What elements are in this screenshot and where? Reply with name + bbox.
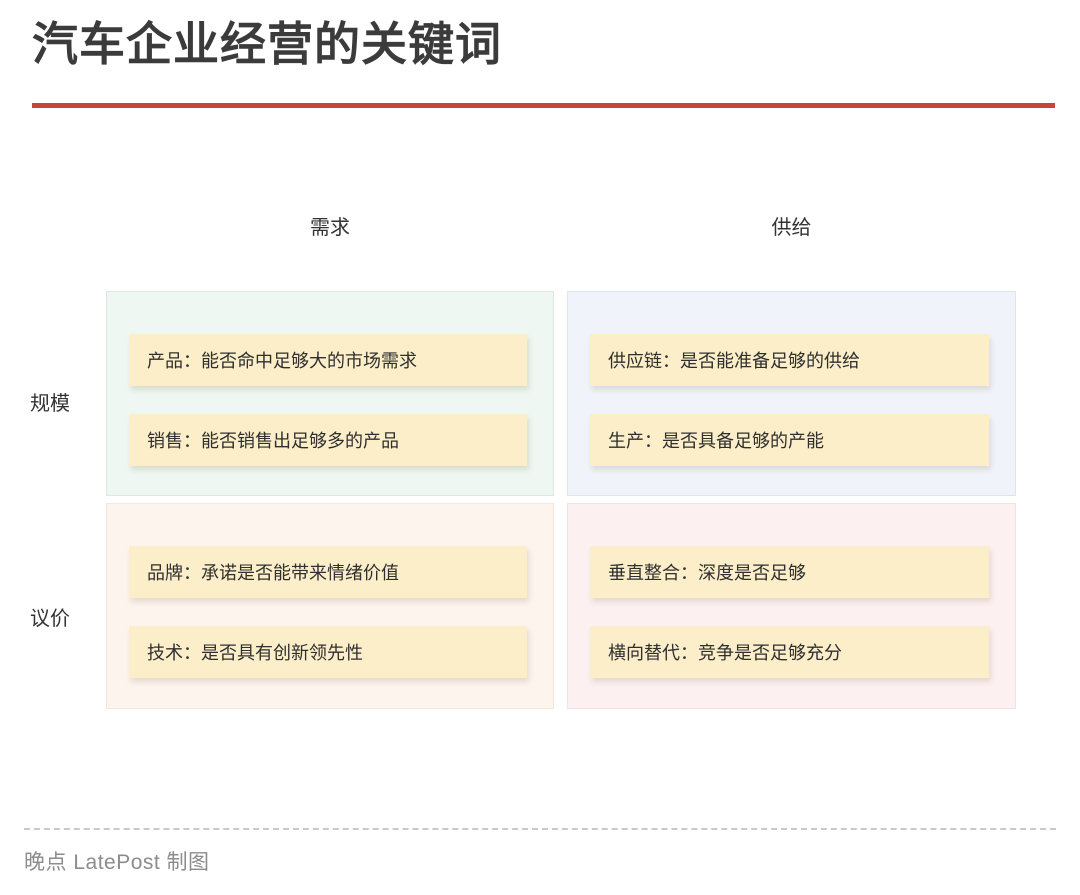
keyword-card: 产品：能否命中足够大的市场需求 <box>129 334 527 386</box>
keyword-card: 品牌：承诺是否能带来情绪价值 <box>129 546 527 598</box>
header: 汽车企业经营的关键词 <box>32 16 1056 74</box>
row-header-bargain: 议价 <box>0 602 100 631</box>
keyword-card: 生产：是否具备足够的产能 <box>590 414 989 466</box>
infographic-page: 汽车企业经营的关键词 需求 供给 规模 议价 产品：能否命中足够大的市场需求 销… <box>0 0 1080 895</box>
row-header-scale: 规模 <box>0 387 100 416</box>
footer: 晚点 LatePost 制图 <box>24 828 1056 876</box>
quadrant-scale-demand: 产品：能否命中足够大的市场需求 销售：能否销售出足够多的产品 <box>106 291 554 496</box>
matrix-grid: 规模 议价 产品：能否命中足够大的市场需求 销售：能否销售出足够多的产品 供应链… <box>0 247 1080 667</box>
keyword-card: 垂直整合：深度是否足够 <box>590 546 989 598</box>
keyword-matrix: 需求 供给 规模 议价 产品：能否命中足够大的市场需求 销售：能否销售出足够多的… <box>0 205 1080 667</box>
column-header-row: 需求 供给 <box>0 205 1080 247</box>
keyword-card: 销售：能否销售出足够多的产品 <box>129 414 527 466</box>
quadrant-scale-supply: 供应链：是否能准备足够的供给 生产：是否具备足够的产能 <box>567 291 1016 496</box>
quadrant-bargain-demand: 品牌：承诺是否能带来情绪价值 技术：是否具有创新领先性 <box>106 503 554 709</box>
footer-credit: 晚点 LatePost 制图 <box>24 846 1056 876</box>
quadrant-bargain-supply: 垂直整合：深度是否足够 横向替代：竞争是否足够充分 <box>567 503 1016 709</box>
page-title: 汽车企业经营的关键词 <box>32 16 1056 74</box>
column-header-demand: 需求 <box>106 211 554 240</box>
keyword-card: 横向替代：竞争是否足够充分 <box>590 626 989 678</box>
keyword-card: 供应链：是否能准备足够的供给 <box>590 334 989 386</box>
column-header-supply: 供给 <box>567 211 1016 240</box>
title-divider <box>32 103 1055 108</box>
footer-divider <box>24 828 1056 830</box>
keyword-card: 技术：是否具有创新领先性 <box>129 626 527 678</box>
